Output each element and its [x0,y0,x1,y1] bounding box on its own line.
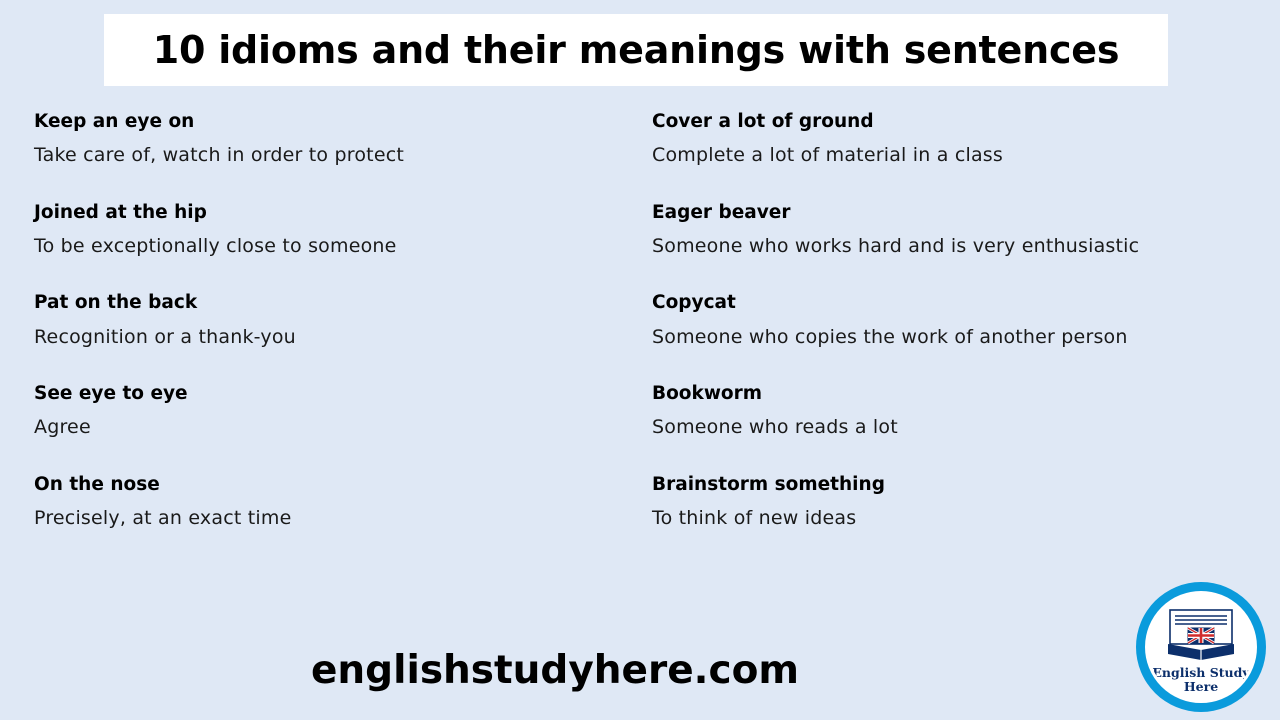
idiom-term: Keep an eye on [34,110,616,134]
list-item: See eye to eye Agree [34,382,616,440]
idiom-columns: Keep an eye on Take care of, watch in or… [0,110,1280,564]
list-item: Eager beaver Someone who works hard and … [652,201,1280,259]
list-item: Brainstorm something To think of new ide… [652,473,1280,531]
list-item: Keep an eye on Take care of, watch in or… [34,110,616,168]
idiom-term: Bookworm [652,382,1280,406]
page-title: 10 idioms and their meanings with senten… [153,28,1120,72]
english-study-here-logo: English Study Here [1136,582,1266,712]
open-book-icon [1164,608,1238,660]
list-item: Cover a lot of ground Complete a lot of … [652,110,1280,168]
right-column: Cover a lot of ground Complete a lot of … [616,110,1280,564]
list-item: Copycat Someone who copies the work of a… [652,291,1280,349]
idiom-term: Joined at the hip [34,201,616,225]
logo-label: English Study Here [1148,666,1254,695]
list-item: Bookworm Someone who reads a lot [652,382,1280,440]
idiom-meaning: Agree [34,415,616,440]
left-column: Keep an eye on Take care of, watch in or… [0,110,616,564]
idiom-meaning: Complete a lot of material in a class [652,143,1280,168]
idiom-meaning: To think of new ideas [652,506,1280,531]
logo-label-line2: Here [1148,680,1254,694]
idiom-term: Eager beaver [652,201,1280,225]
idiom-meaning: Someone who copies the work of another p… [652,325,1280,350]
idiom-term: On the nose [34,473,616,497]
idiom-term: Pat on the back [34,291,616,315]
logo-label-line1: English Study [1148,666,1254,680]
idiom-meaning: Recognition or a thank-you [34,325,616,350]
union-jack-flag [1188,628,1214,643]
idiom-meaning: Someone who works hard and is very enthu… [652,234,1280,259]
list-item: Pat on the back Recognition or a thank-y… [34,291,616,349]
idiom-term: See eye to eye [34,382,616,406]
idiom-term: Brainstorm something [652,473,1280,497]
title-banner: 10 idioms and their meanings with senten… [104,14,1168,86]
website-name: englishstudyhere.com [311,648,799,693]
idiom-term: Copycat [652,291,1280,315]
list-item: On the nose Precisely, at an exact time [34,473,616,531]
list-item: Joined at the hip To be exceptionally cl… [34,201,616,259]
logo-inner-circle: English Study Here [1145,591,1257,703]
idiom-meaning: Someone who reads a lot [652,415,1280,440]
idiom-term: Cover a lot of ground [652,110,1280,134]
idiom-meaning: To be exceptionally close to someone [34,234,616,259]
idiom-meaning: Take care of, watch in order to protect [34,143,616,168]
footer-brand: englishstudyhere.com [0,648,1280,693]
idiom-meaning: Precisely, at an exact time [34,506,616,531]
